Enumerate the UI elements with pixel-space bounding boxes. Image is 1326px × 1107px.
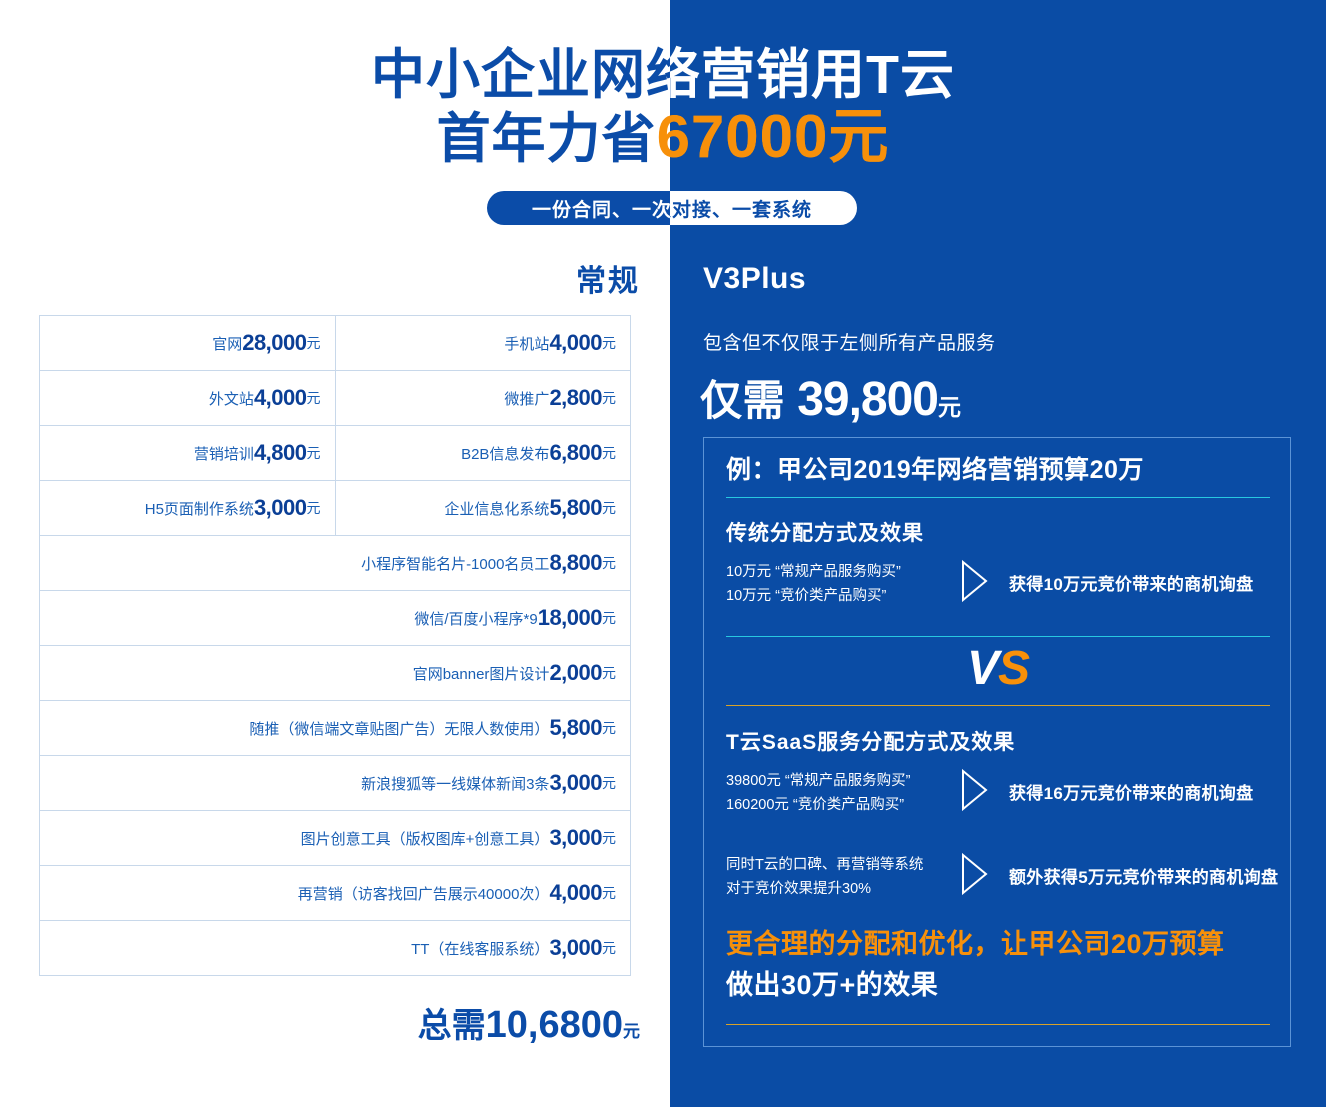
price-item-unit: 元 — [602, 828, 616, 848]
table-row: 图片创意工具（版权图库+创意工具）3,000元 — [40, 811, 630, 866]
price-item: 新浪搜狐等一线媒体新闻3条3,000元 — [40, 756, 630, 810]
price-item-label: 再营销（访客找回广告展示40000次） — [298, 883, 550, 904]
price-item-unit: 元 — [602, 388, 616, 408]
price-item-amount: 2,800 — [549, 385, 602, 411]
example-scenario-box: 例：甲公司2019年网络营销预算20万 传统分配方式及效果 10万元 “常规产品… — [703, 437, 1291, 1047]
saas-bonus-bullets: 同时T云的口碑、再营销等系统 对于竞价效果提升30% — [726, 853, 976, 901]
price-item: 随推（微信端文章贴图广告）无限人数使用）5,800元 — [40, 701, 630, 755]
closing-line-2: 做出30万+的效果 — [726, 963, 1225, 1002]
price-item-amount: 3,000 — [254, 495, 307, 521]
table-row: H5页面制作系统3,000元企业信息化系统5,800元 — [40, 481, 630, 536]
saas-bullet-1: 39800元 “常规产品服务购买” — [726, 769, 976, 793]
price-item-label: 营销培训 — [194, 443, 254, 464]
v3plus-price-prefix: 仅需 — [700, 377, 785, 424]
traditional-section-heading: 传统分配方式及效果 — [726, 517, 924, 547]
saas-bullet-2: 160200元 “竞价类产品购买” — [726, 793, 976, 817]
price-item: 企业信息化系统5,800元 — [336, 481, 631, 535]
price-item-amount: 6,800 — [549, 440, 602, 466]
price-item-label: B2B信息发布 — [461, 443, 549, 464]
price-item-unit: 元 — [602, 608, 616, 628]
price-item-amount: 2,000 — [549, 660, 602, 686]
saas-section-heading: T云SaaS服务分配方式及效果 — [726, 726, 1015, 756]
traditional-bullets: 10万元 “常规产品服务购买” 10万元 “竞价类产品购买” — [726, 560, 976, 608]
divider-cyan-vs-top — [726, 636, 1270, 637]
saas-bonus-result: 额外获得5万元竞价带来的商机询盘 — [1009, 863, 1278, 888]
chevron-right-icon-2 — [959, 768, 989, 812]
divider-cyan-top — [726, 497, 1270, 498]
price-item-unit: 元 — [307, 498, 321, 518]
price-item: 外文站4,000元 — [40, 371, 336, 425]
table-row: 营销培训4,800元B2B信息发布6,800元 — [40, 426, 630, 481]
price-item-amount: 4,000 — [549, 880, 602, 906]
standard-total-label: 总需 — [418, 1007, 486, 1045]
price-item-label: 官网 — [212, 333, 242, 354]
price-item: 小程序智能名片-1000名员工8,800元 — [40, 536, 630, 590]
table-row: 官网banner图片设计2,000元 — [40, 646, 630, 701]
price-item-unit: 元 — [307, 443, 321, 463]
price-item: H5页面制作系统3,000元 — [40, 481, 336, 535]
price-item: B2B信息发布6,800元 — [336, 426, 631, 480]
price-item-unit: 元 — [602, 443, 616, 463]
price-item-label: 外文站 — [209, 388, 254, 409]
price-item: TT（在线客服系统）3,000元 — [40, 921, 630, 975]
divider-gold-vs-bottom — [726, 705, 1270, 706]
price-item-label: 微推广 — [504, 388, 549, 409]
vs-letter-s: S — [998, 642, 1029, 695]
headline-line-2-prefix: 首年力省 — [437, 109, 657, 169]
price-item-label: 新浪搜狐等一线媒体新闻3条 — [361, 773, 549, 794]
vs-letter-v: V — [967, 642, 998, 695]
v3plus-price-amount: 39,800 — [797, 373, 938, 426]
standard-total: 总需10,6800元 — [418, 998, 640, 1047]
price-item-label: 企业信息化系统 — [444, 498, 549, 519]
price-item-amount: 4,000 — [254, 385, 307, 411]
price-item-unit: 元 — [602, 883, 616, 903]
chevron-right-icon-3 — [959, 852, 989, 896]
price-item-amount: 3,000 — [549, 825, 602, 851]
price-item-label: 手机站 — [504, 333, 549, 354]
price-item: 营销培训4,800元 — [40, 426, 336, 480]
price-item-label: 官网banner图片设计 — [413, 663, 550, 684]
table-row: 再营销（访客找回广告展示40000次）4,000元 — [40, 866, 630, 921]
price-item-amount: 4,800 — [254, 440, 307, 466]
table-row: 微信/百度小程序*918,000元 — [40, 591, 630, 646]
price-item: 微信/百度小程序*918,000元 — [40, 591, 630, 645]
price-item-amount: 3,000 — [549, 935, 602, 961]
price-item: 官网28,000元 — [40, 316, 336, 370]
tagline-badge-inverted: 一份合同、一次对接、一套系统 — [670, 191, 857, 225]
price-item-amount: 5,800 — [549, 715, 602, 741]
price-item-label: 随推（微信端文章贴图广告）无限人数使用） — [249, 718, 549, 739]
table-row: 新浪搜狐等一线媒体新闻3条3,000元 — [40, 756, 630, 811]
price-item-label: 小程序智能名片-1000名员工 — [361, 553, 549, 574]
table-row: 小程序智能名片-1000名员工8,800元 — [40, 536, 630, 591]
standard-plan-heading: 常规 — [576, 256, 640, 300]
traditional-bullet-2: 10万元 “竞价类产品购买” — [726, 584, 976, 608]
traditional-bullet-1: 10万元 “常规产品服务购买” — [726, 560, 976, 584]
v3plus-price: 仅需 39,800元 — [700, 367, 962, 428]
price-item-amount: 5,800 — [549, 495, 602, 521]
traditional-result: 获得10万元竞价带来的商机询盘 — [1009, 570, 1253, 595]
price-item: 图片创意工具（版权图库+创意工具）3,000元 — [40, 811, 630, 865]
price-item: 微推广2,800元 — [336, 371, 631, 425]
headline-line-2-inverted: 首年力省67000元 — [670, 106, 1326, 170]
price-item-unit: 元 — [602, 718, 616, 738]
saas-result: 获得16万元竞价带来的商机询盘 — [1009, 779, 1253, 804]
table-row: 官网28,000元手机站4,000元 — [40, 316, 630, 371]
price-item-unit: 元 — [307, 388, 321, 408]
price-item-unit: 元 — [307, 333, 321, 353]
standard-plan-panel: 常规 官网28,000元手机站4,000元外文站4,000元微推广2,800元营… — [0, 240, 670, 1107]
price-item-amount: 3,000 — [549, 770, 602, 796]
saas-bullets: 39800元 “常规产品服务购买” 160200元 “竞价类产品购买” — [726, 769, 976, 817]
price-item-label: H5页面制作系统 — [145, 498, 254, 519]
headline-line-1-inverted: 中小企业网络营销用T云 — [670, 44, 1326, 106]
table-row: TT（在线客服系统）3,000元 — [40, 921, 630, 976]
vs-mark: VS — [704, 641, 1292, 696]
price-item-unit: 元 — [602, 553, 616, 573]
table-row: 随推（微信端文章贴图广告）无限人数使用）5,800元 — [40, 701, 630, 756]
standard-price-table: 官网28,000元手机站4,000元外文站4,000元微推广2,800元营销培训… — [39, 315, 631, 976]
price-item-unit: 元 — [602, 663, 616, 683]
price-item: 官网banner图片设计2,000元 — [40, 646, 630, 700]
price-item-label: 微信/百度小程序*9 — [414, 608, 537, 629]
price-item-amount: 8,800 — [549, 550, 602, 576]
closing-statement: 更合理的分配和优化，让甲公司20万预算 做出30万+的效果 — [726, 922, 1225, 1002]
chevron-right-icon — [959, 559, 989, 603]
price-item-unit: 元 — [602, 938, 616, 958]
price-item: 再营销（访客找回广告展示40000次）4,000元 — [40, 866, 630, 920]
price-item-amount: 18,000 — [538, 605, 602, 631]
example-title: 例：甲公司2019年网络营销预算20万 — [726, 450, 1144, 486]
price-item: 手机站4,000元 — [336, 316, 631, 370]
price-item-label: 图片创意工具（版权图库+创意工具） — [301, 828, 550, 849]
v3plus-price-unit: 元 — [938, 394, 962, 420]
price-item-unit: 元 — [602, 498, 616, 518]
saas-bonus-bullet-1: 同时T云的口碑、再营销等系统 — [726, 853, 976, 877]
divider-gold-bottom — [726, 1024, 1270, 1025]
price-item-unit: 元 — [602, 333, 616, 353]
standard-total-amount: 10,6800 — [486, 1004, 623, 1046]
price-item-label: TT（在线客服系统） — [411, 938, 549, 959]
standard-total-unit: 元 — [623, 1022, 640, 1041]
header-right-half: 中小企业网络营销用T云 首年力省67000元 一份合同、一次对接、一套系统 — [670, 0, 1326, 240]
v3plus-plan-panel: V3Plus 包含但不仅限于左侧所有产品服务 仅需 39,800元 例：甲公司2… — [670, 240, 1326, 1107]
headline-savings-amount-inverted: 67000元 — [670, 103, 889, 170]
price-item-amount: 4,000 — [549, 330, 602, 356]
headline-block-inverted: 中小企业网络营销用T云 首年力省67000元 — [670, 44, 1326, 170]
closing-line-1: 更合理的分配和优化，让甲公司20万预算 — [726, 922, 1225, 961]
v3plus-plan-name: V3Plus — [703, 262, 806, 296]
price-item-unit: 元 — [602, 773, 616, 793]
v3plus-plan-note: 包含但不仅限于左侧所有产品服务 — [703, 328, 996, 355]
price-item-amount: 28,000 — [242, 330, 306, 356]
table-row: 外文站4,000元微推广2,800元 — [40, 371, 630, 426]
saas-bonus-bullet-2: 对于竞价效果提升30% — [726, 877, 976, 901]
